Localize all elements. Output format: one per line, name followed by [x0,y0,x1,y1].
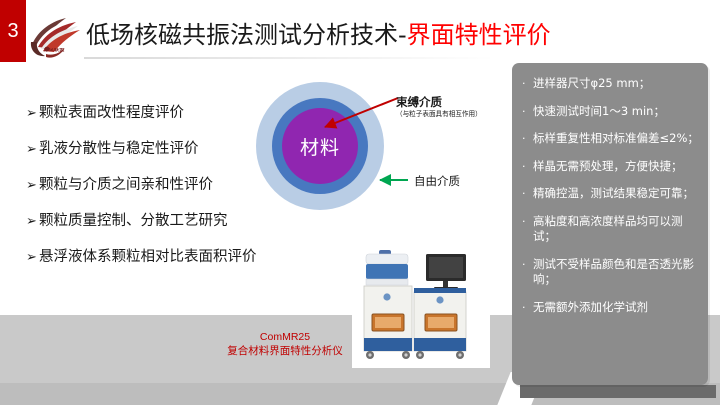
list-item-label: 样晶无需预处理，方便快捷； [533,159,702,175]
list-item: · 标样重复性相对标准偏差≤2%； [522,131,702,147]
title-underline [84,57,494,59]
left-bullet-list: ➢ 颗粒表面改性程度评价 ➢ 乳液分散性与稳定性评价 ➢ 颗粒与介质之间亲和性评… [26,104,286,284]
bullet-arrow-icon: ➢ [26,104,39,123]
free-medium-label: 自由介质 [414,174,460,188]
spec-panel-list: · 进样器尺寸φ25 mm； · 快速测试时间1～3 min； · 标样重复性相… [522,76,702,327]
page-title: 低场核磁共振法测试分析技术-界面特性评价 [86,18,551,52]
list-item: · 快速测试时间1～3 min； [522,104,702,120]
slide-number-badge: 3 [0,0,26,62]
list-item: · 测试不受样品颜色和是否透光影响； [522,257,702,288]
list-item-label: 高粘度和高浓度样品均可以测试； [533,214,702,245]
list-item-label: 快速测试时间1～3 min； [533,104,702,120]
bullet-arrow-icon: ➢ [26,176,39,195]
list-item-label: 进样器尺寸φ25 mm； [533,76,702,92]
list-item-label: 精确控温，测试结果稳定可靠； [533,186,702,202]
bound-medium-label: 束缚介质 [396,95,442,109]
list-item-label: 标样重复性相对标准偏差≤2%； [533,131,702,147]
title-accent-text: 界面特性评价 [407,21,551,49]
list-item: · 进样器尺寸φ25 mm； [522,76,702,92]
list-item-label: 颗粒与介质之间亲和性评价 [39,176,213,195]
list-item: ➢ 颗粒与介质之间亲和性评价 [26,176,286,195]
instrument-caption: ComMR25 复合材料界面特性分析仪 [210,330,360,358]
slide-canvas: 3 苏试联盟 低场核磁共振法测试分析技术-界面特性评价 ➢ 颗粒表面改性程度评价… [0,0,720,405]
list-item-label: 测试不受样品颜色和是否透光影响； [533,257,702,288]
bullet-dot-icon: · [522,300,533,316]
list-item: ➢ 悬浮液体系颗粒相对比表面积评价 [26,248,286,267]
bullet-dot-icon: · [522,131,533,147]
instrument-photo [352,240,490,368]
instrument-name-label: 复合材料界面特性分析仪 [210,344,360,358]
list-item-label: 颗粒质量控制、分散工艺研究 [39,212,228,231]
list-item-label: 乳液分散性与稳定性评价 [39,140,199,159]
bullet-dot-icon: · [522,257,533,273]
logo-subtext: 苏试联盟 [28,48,80,59]
bullet-dot-icon: · [522,186,533,202]
list-item: · 高粘度和高浓度样品均可以测试； [522,214,702,245]
bound-medium-arrow-icon [325,98,398,127]
list-item: · 样晶无需预处理，方便快捷； [522,159,702,175]
panel-shadow-bar [520,385,716,398]
list-item-label: 颗粒表面改性程度评价 [39,104,184,123]
list-item-label: 悬浮液体系颗粒相对比表面积评价 [39,248,257,267]
list-item-label: 无需额外添加化学试剂 [533,300,702,316]
bullet-dot-icon: · [522,76,533,92]
title-main-text: 低场核磁共振法测试分析技术- [86,21,407,49]
bullet-dot-icon: · [522,159,533,175]
list-item: ➢ 乳液分散性与稳定性评价 [26,140,286,159]
bullet-arrow-icon: ➢ [26,248,39,267]
bound-medium-sublabel: （与粒子表面具有相互作用） [396,110,480,119]
bullet-arrow-icon: ➢ [26,212,39,231]
bullet-dot-icon: · [522,214,533,230]
instrument-model-label: ComMR25 [210,330,360,344]
bullet-arrow-icon: ➢ [26,140,39,159]
list-item: ➢ 颗粒表面改性程度评价 [26,104,286,123]
bullet-dot-icon: · [522,104,533,120]
list-item: ➢ 颗粒质量控制、分散工艺研究 [26,212,286,231]
list-item: · 精确控温，测试结果稳定可靠； [522,186,702,202]
list-item: · 无需额外添加化学试剂 [522,300,702,316]
